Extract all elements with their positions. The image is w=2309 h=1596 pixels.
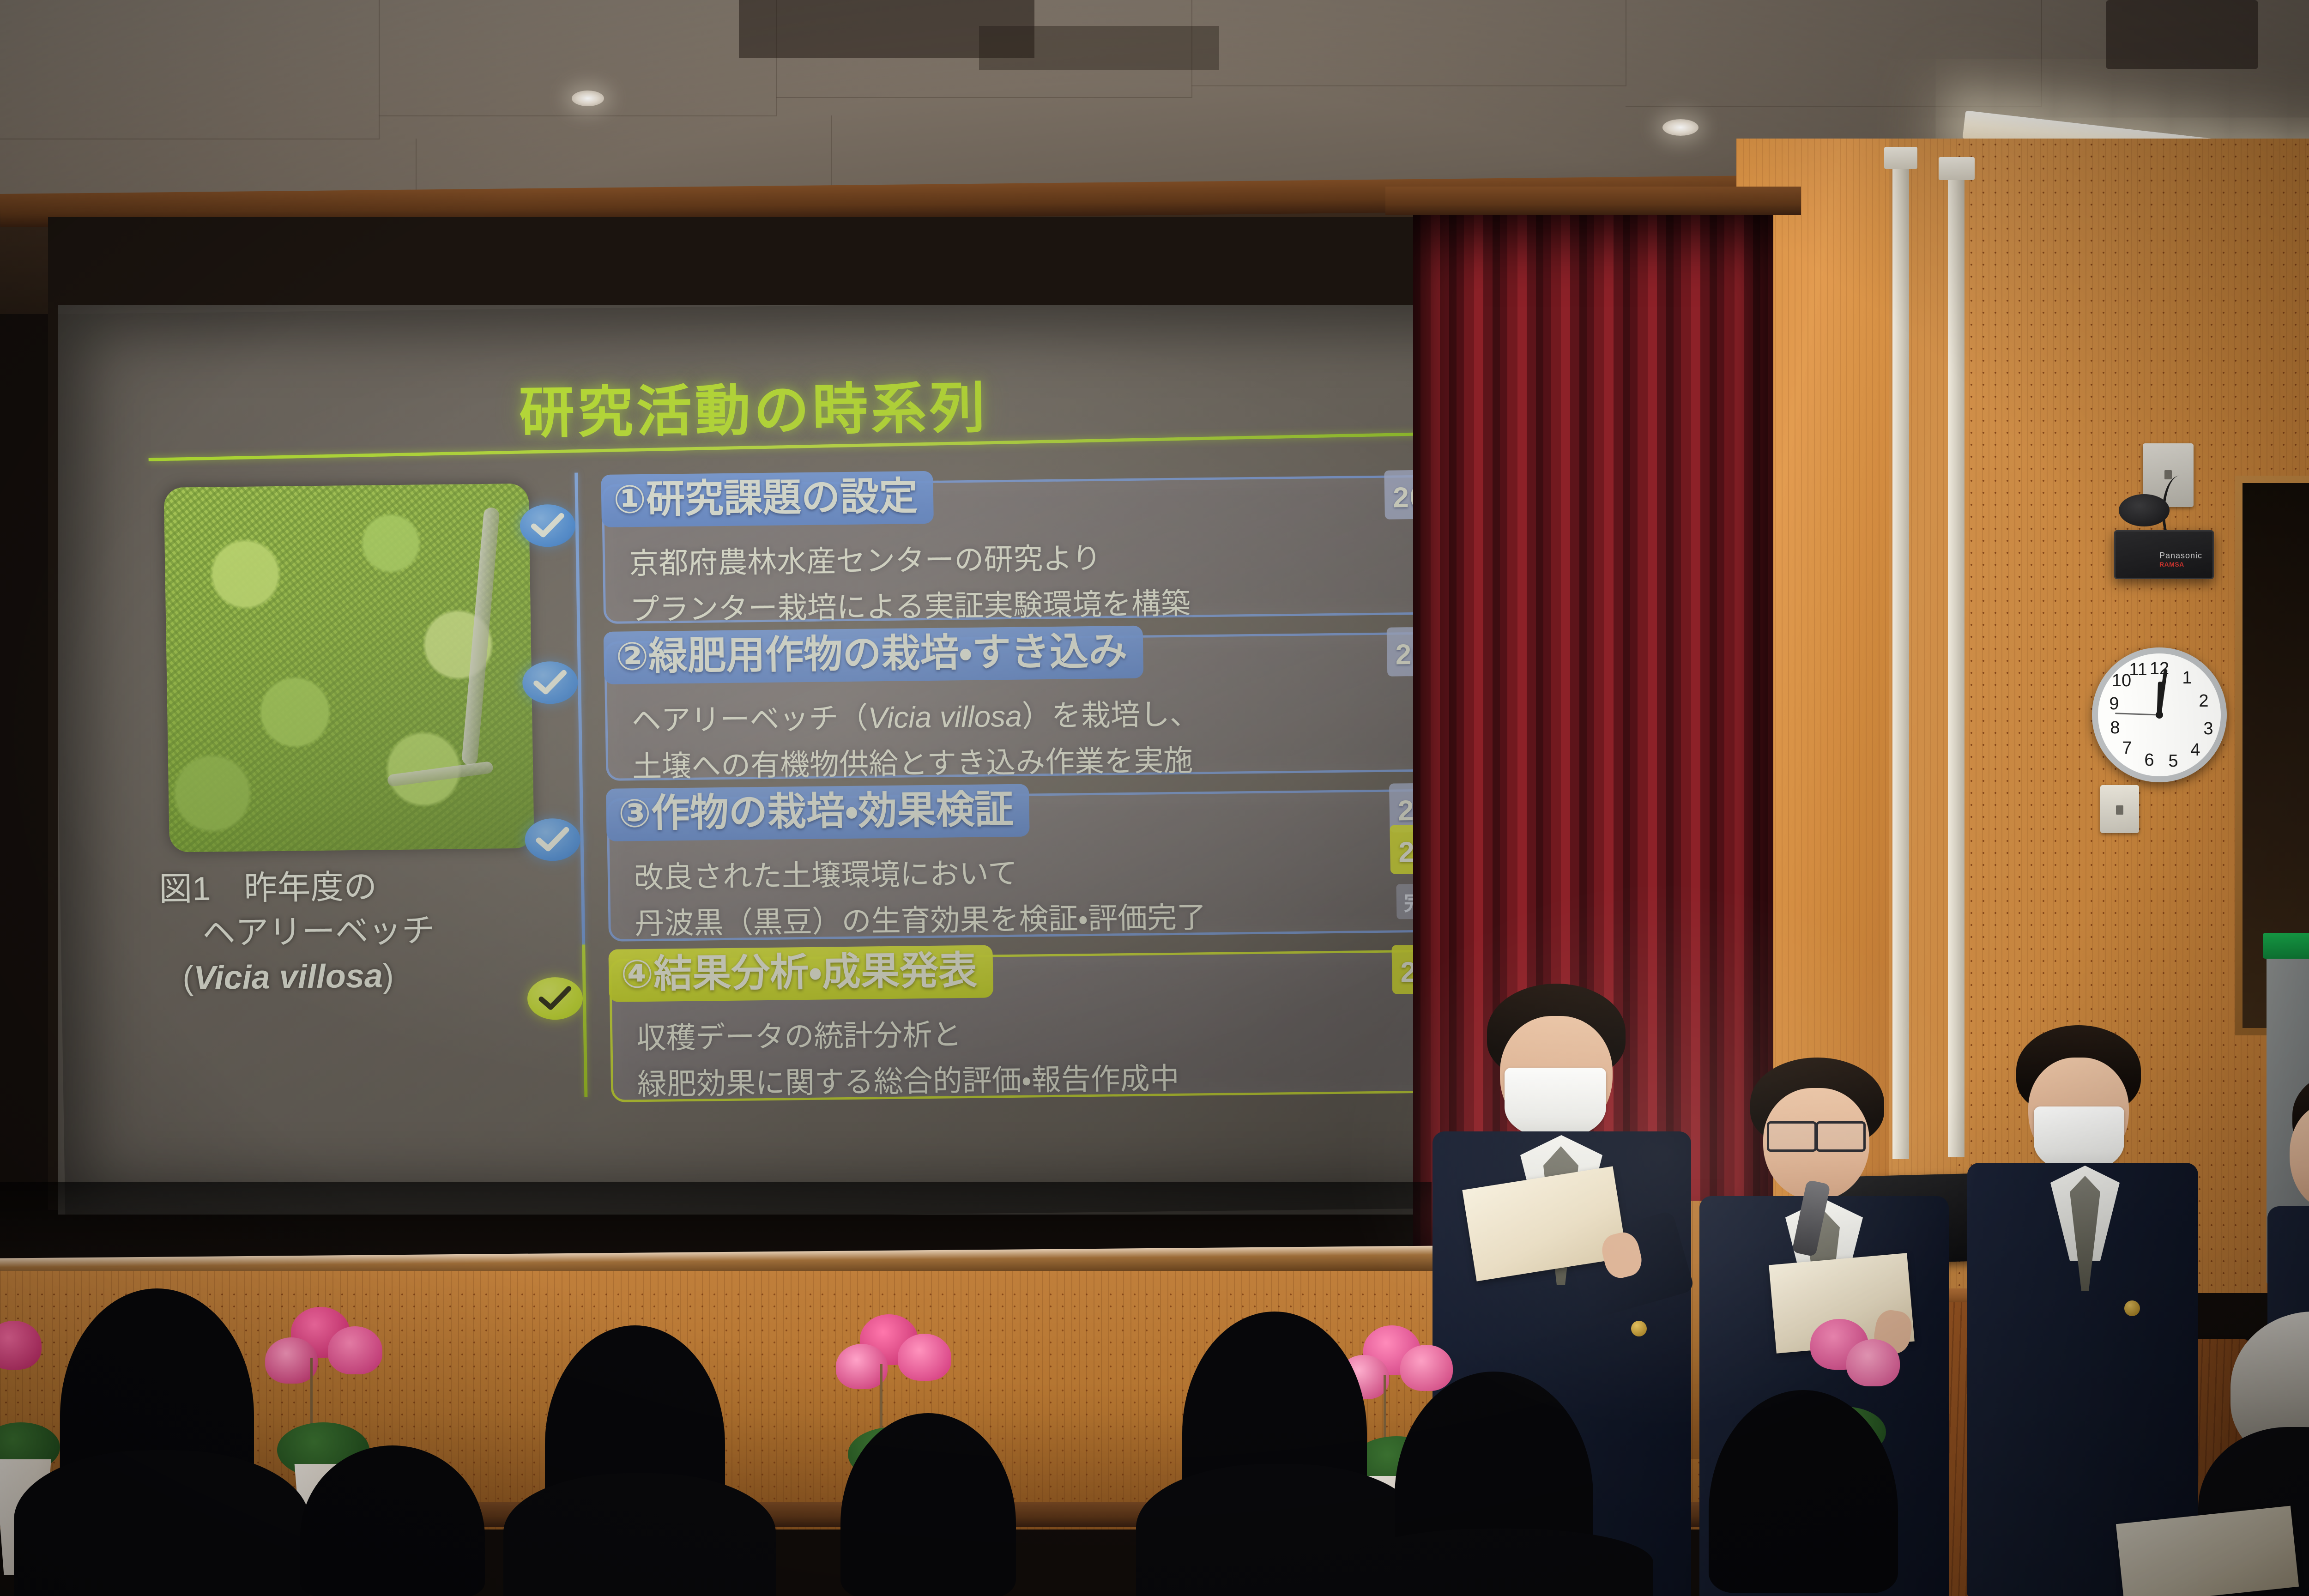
ceiling-tile bbox=[1191, 0, 1626, 86]
cyclamen-bloom bbox=[1846, 1339, 1900, 1386]
body-line: 収穫データの統計分析と bbox=[636, 1010, 1179, 1062]
check-icon bbox=[520, 504, 575, 547]
timeline-item-2-heading: ②緑肥用作物の栽培・すき込み bbox=[604, 626, 1143, 684]
presenter-3-lapel-badge bbox=[2124, 1300, 2140, 1316]
figure-caption: 図1 昨年度の ヘアリーベッチ (Vicia villosa) bbox=[158, 863, 567, 1001]
figure-caption-line2: ヘアリーベッチ bbox=[159, 907, 566, 956]
cyclamen-bloom bbox=[898, 1334, 951, 1381]
body-line: ヘアリーベッチ（Vicia villosa）を栽培し、 bbox=[631, 691, 1200, 744]
timeline-rail-blue bbox=[574, 473, 585, 945]
photo-pipe bbox=[387, 761, 494, 787]
ceiling-vent bbox=[979, 26, 1219, 70]
body-line: 土壌への有機物供給とすき込み作業を実施 bbox=[632, 738, 1200, 790]
equipment-cabinet-top bbox=[2263, 933, 2309, 959]
check-icon bbox=[522, 661, 578, 704]
body-line: 改良された土壌環境において bbox=[634, 848, 1206, 901]
ceiling-speaker: PanasonicRAMSA bbox=[2114, 530, 2214, 579]
clock-number: 3 bbox=[2197, 720, 2220, 738]
timeline-item-1: ①研究課題の設定 京都府農林水産センターの研究より プランター栽培による実証実験… bbox=[602, 474, 1528, 624]
clock-number: 11 bbox=[2127, 661, 2150, 678]
presenter-3-face-mask bbox=[2034, 1106, 2124, 1171]
speaker-brand-label: PanasonicRAMSA bbox=[2159, 551, 2202, 568]
timeline-item-3-heading: ③作物の栽培・効果検証 bbox=[606, 784, 1029, 842]
presenter-1-face-mask bbox=[1505, 1068, 1606, 1138]
ceiling-tile bbox=[0, 0, 380, 139]
downlight-icon bbox=[1662, 119, 1699, 136]
wall-clock: 12 1 2 3 4 5 6 7 8 9 10 11 bbox=[2092, 647, 2227, 782]
slide-title: 研究活動の時系列 bbox=[519, 363, 989, 448]
timeline-item-3-body: 改良された土壌環境において 丹波黒（黒豆）の生育効果を検証・評価完了 bbox=[634, 848, 1207, 947]
downlight-icon bbox=[572, 91, 604, 106]
curtain-top-trim bbox=[1385, 187, 1801, 215]
cyclamen-bloom bbox=[1400, 1345, 1453, 1391]
clock-number: 9 bbox=[2103, 695, 2126, 713]
photo-pipe bbox=[461, 507, 500, 766]
presenter-3 bbox=[1986, 1025, 2184, 1596]
timeline-item-1-heading: ①研究課題の設定 bbox=[601, 471, 934, 527]
clock-second-hand bbox=[2115, 713, 2159, 715]
timeline-item-3: ③作物の栽培・効果検証 改良された土壌環境において 丹波黒（黒豆）の生育効果を検… bbox=[606, 788, 1532, 942]
hairy-vetch-photo bbox=[164, 484, 534, 852]
clock-center-pin bbox=[2156, 711, 2163, 719]
timeline-rail-green bbox=[582, 944, 587, 1097]
clock-number: 12 bbox=[2148, 660, 2171, 677]
cyclamen-bloom bbox=[328, 1326, 382, 1374]
wall-pipe-cap bbox=[1939, 157, 1975, 180]
audience-member-shoulders bbox=[1348, 1529, 1653, 1596]
timeline-item-2: ②緑肥用作物の栽培・すき込み ヘアリーベッチ（Vicia villosa）を栽培… bbox=[604, 631, 1530, 781]
presenter-1-lapel-badge bbox=[1631, 1321, 1647, 1336]
audience-member-shoulders bbox=[14, 1450, 309, 1596]
check-icon bbox=[527, 977, 583, 1020]
wall-pipe bbox=[1892, 152, 1909, 1159]
clock-number: 5 bbox=[2162, 752, 2185, 770]
audience-member-shoulders bbox=[503, 1473, 776, 1596]
timeline-item-4: ④結果分析・成果発表 収穫データの統計分析と 緑肥効果に関する総合的評価・報告作… bbox=[609, 949, 1535, 1102]
timeline-item-4-body: 収穫データの統計分析と 緑肥効果に関する総合的評価・報告作成中 bbox=[636, 1010, 1180, 1108]
timeline-item-2-body: ヘアリーベッチ（Vicia villosa）を栽培し、 土壌への有機物供給とすき… bbox=[631, 691, 1200, 790]
figure-caption-line3: (Vicia villosa) bbox=[160, 952, 567, 1001]
speaker-mount bbox=[2119, 494, 2170, 526]
wall-switch bbox=[2100, 785, 2139, 833]
cyclamen-bloom bbox=[265, 1337, 318, 1384]
body-line: 丹波黒（黒豆）の生育効果を検証・評価完了 bbox=[635, 895, 1207, 947]
body-line: 緑肥効果に関する総合的評価・報告作成中 bbox=[637, 1056, 1179, 1108]
clock-number: 8 bbox=[2103, 719, 2127, 737]
clock-number: 7 bbox=[2116, 739, 2139, 757]
ceiling-fixture bbox=[2106, 0, 2258, 69]
timeline-item-4-heading: ④結果分析・成果発表 bbox=[608, 945, 993, 1002]
ceiling-tile bbox=[1626, 0, 2042, 107]
wall-pipe-cap bbox=[1884, 147, 1917, 169]
figure-caption-line1: 図1 昨年度の bbox=[158, 863, 565, 912]
auditorium-presentation-photo: 研究活動の時系列 図1 昨年度の ヘアリーベッチ (Vicia villosa) bbox=[0, 0, 2309, 1596]
wall-pipe bbox=[1948, 164, 1964, 1157]
clock-number: 2 bbox=[2192, 692, 2215, 710]
presenter-2-glasses-right bbox=[1816, 1121, 1866, 1152]
check-icon bbox=[525, 818, 580, 861]
presenter-2-glasses-left bbox=[1767, 1121, 1817, 1152]
clock-number: 1 bbox=[2176, 669, 2199, 687]
clock-number: 4 bbox=[2184, 741, 2207, 759]
body-line: プランター栽培による実証実験環境を構築 bbox=[629, 580, 1191, 633]
timeline-item-1-body: 京都府農林水産センターの研究より プランター栽培による実証実験環境を構築 bbox=[629, 535, 1191, 633]
body-line: 京都府農林水産センターの研究より bbox=[629, 535, 1190, 587]
clock-number: 6 bbox=[2138, 751, 2161, 769]
